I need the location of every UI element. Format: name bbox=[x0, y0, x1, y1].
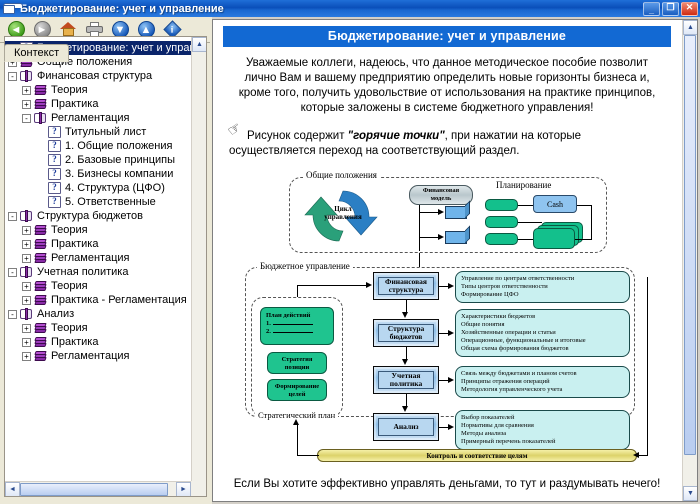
books-icon bbox=[34, 294, 47, 306]
open-book-icon bbox=[20, 70, 33, 82]
detail-arrow-1 bbox=[448, 283, 454, 289]
cycle-label: Цикл управления bbox=[313, 205, 373, 221]
tree-item[interactable]: +Практика bbox=[5, 97, 191, 111]
tree-item-label: Практика - Регламентация bbox=[51, 294, 187, 306]
tree-item[interactable]: 5. Ответственные bbox=[5, 195, 191, 209]
expand-icon[interactable]: + bbox=[22, 324, 31, 333]
tree-item-label: Учетная политика bbox=[37, 266, 128, 278]
books-icon bbox=[34, 84, 47, 96]
topic-tree-frame: Бюджетирование: учет и управлен+Общие по… bbox=[4, 36, 207, 497]
fm-cube-1[interactable] bbox=[445, 206, 467, 219]
top-to-main-connector bbox=[419, 253, 420, 267]
books-icon bbox=[34, 238, 47, 250]
help-page-icon bbox=[48, 140, 61, 152]
planning-bar-3[interactable] bbox=[485, 233, 518, 245]
tree-item[interactable]: +Практика - Регламентация bbox=[5, 293, 191, 307]
scrollbar-corner bbox=[191, 481, 206, 496]
tree-item[interactable]: -Финансовая структура bbox=[5, 69, 191, 83]
window-folder-icon bbox=[3, 3, 16, 15]
open-book-icon bbox=[20, 308, 33, 320]
budget-management-label: Бюджетное управление bbox=[257, 261, 353, 271]
tree-item-label: 1. Общие положения bbox=[65, 140, 172, 152]
tree-item-label: Теория bbox=[51, 84, 88, 96]
action-plan-title: План действий bbox=[266, 312, 328, 320]
tree-item-label: Финансовая структура bbox=[37, 70, 152, 82]
planning-bar-1[interactable] bbox=[485, 199, 518, 211]
tree-item-label: 3. Бизнесы компании bbox=[65, 168, 173, 180]
fm-cube-2[interactable] bbox=[445, 231, 467, 244]
tree-item-label: Практика bbox=[51, 98, 98, 110]
strategy-to-chain-arrow bbox=[366, 282, 372, 288]
plan-link-right-v bbox=[591, 205, 592, 239]
tree-spacer bbox=[36, 156, 45, 165]
control-feedback-arrow bbox=[293, 419, 299, 425]
fm-branch-1 bbox=[419, 212, 439, 213]
tree-item[interactable]: -Учетная политика bbox=[5, 265, 191, 279]
plan-link-2 bbox=[518, 222, 542, 223]
open-book-icon bbox=[34, 112, 47, 124]
books-icon bbox=[34, 252, 47, 264]
tree-item[interactable]: 4. Структура (ЦФО) bbox=[5, 181, 191, 195]
tree-item-label: Анализ bbox=[37, 308, 74, 320]
tree-spacer bbox=[36, 128, 45, 137]
expand-icon[interactable]: + bbox=[22, 100, 31, 109]
control-right-arrow bbox=[633, 452, 639, 458]
collapse-icon[interactable]: - bbox=[8, 268, 17, 277]
goal-formation-box[interactable]: Формирование целей bbox=[267, 379, 327, 401]
plan-link-right-b bbox=[575, 239, 592, 240]
detail-arrow-2 bbox=[448, 330, 454, 336]
control-right-v bbox=[647, 277, 648, 455]
fm-branch-2 bbox=[419, 237, 439, 238]
topic-tree[interactable]: Бюджетирование: учет и управлен+Общие по… bbox=[5, 37, 191, 481]
footer-paragraph: Если Вы хотите эффективно управлять день… bbox=[229, 477, 665, 492]
books-icon bbox=[34, 336, 47, 348]
content-scroll-thumb[interactable] bbox=[684, 35, 696, 455]
tree-spacer bbox=[36, 142, 45, 151]
tree-item-label: Теория bbox=[51, 224, 88, 236]
expand-icon[interactable]: + bbox=[22, 338, 31, 347]
control-bar[interactable]: Контроль и соответствие целям bbox=[317, 449, 637, 462]
action-plan-item-2: 2. bbox=[266, 328, 328, 336]
pointing-hand-icon bbox=[229, 125, 245, 143]
tab-context[interactable]: Контекст bbox=[4, 44, 69, 62]
intro-paragraph: Уважаемые коллеги, надеюсь, что данное м… bbox=[229, 56, 665, 116]
tree-item-label: Титульный лист bbox=[65, 126, 146, 138]
tree-vertical-scrollbar[interactable]: ▲ bbox=[191, 37, 206, 481]
content-pane: Бюджетирование: учет и управление Уважае… bbox=[212, 19, 698, 502]
tree-item-label: Практика bbox=[51, 238, 98, 250]
collapse-icon[interactable]: - bbox=[8, 310, 17, 319]
strategy-position-box[interactable]: Стратегия позиции bbox=[267, 352, 327, 374]
restore-button[interactable]: ❐ bbox=[662, 2, 679, 16]
hotspot-hint: Рисунок содержит "горячие точки", при на… bbox=[229, 125, 665, 159]
tree-item-label: Теория bbox=[51, 322, 88, 334]
control-right-h bbox=[639, 455, 648, 456]
books-icon bbox=[34, 98, 47, 110]
tree-item[interactable]: 2. Базовые принципы bbox=[5, 153, 191, 167]
tree-item[interactable]: +Регламентация bbox=[5, 349, 191, 363]
window-title-bar[interactable]: Бюджетирование: учет и управление _ ❐ ✕ bbox=[0, 0, 700, 17]
plan-link-1 bbox=[518, 205, 533, 206]
tree-item[interactable]: +Практика bbox=[5, 335, 191, 349]
help-page-icon bbox=[48, 196, 61, 208]
content-scroll-up-button[interactable]: ▲ bbox=[683, 20, 698, 35]
tree-horizontal-scrollbar[interactable]: ◄ ► bbox=[5, 481, 191, 496]
tree-item[interactable]: 1. Общие положения bbox=[5, 139, 191, 153]
expand-icon[interactable]: + bbox=[22, 226, 31, 235]
tree-item[interactable]: Титульный лист bbox=[5, 125, 191, 139]
general-provisions-label: Общие положения bbox=[303, 170, 380, 180]
page-title: Бюджетирование: учет и управление bbox=[223, 26, 671, 47]
tree-item[interactable]: 3. Бизнесы компании bbox=[5, 167, 191, 181]
window-controls: _ ❐ ✕ bbox=[643, 2, 698, 16]
navigation-pane: ◄ ► ▼ ▲ i Контекст Поиск bbox=[0, 17, 212, 504]
tree-spacer bbox=[36, 198, 45, 207]
collapse-icon[interactable]: - bbox=[8, 72, 17, 81]
control-feedback-v bbox=[297, 425, 298, 456]
planning-bar-2[interactable] bbox=[485, 216, 518, 228]
tree-spacer bbox=[36, 184, 45, 193]
tree-spacer bbox=[36, 170, 45, 179]
tree-hscroll-thumb[interactable] bbox=[20, 483, 168, 496]
strategy-to-chain-h bbox=[297, 285, 367, 286]
accounting-policy-details[interactable]: Связь между бюджетами и планом счетов Пр… bbox=[455, 366, 630, 398]
tree-item[interactable]: -Анализ bbox=[5, 307, 191, 321]
collapse-icon[interactable]: - bbox=[22, 114, 31, 123]
expand-icon[interactable]: + bbox=[22, 296, 31, 305]
action-plan-item-1: 1. bbox=[266, 320, 328, 328]
open-book-icon bbox=[20, 210, 33, 222]
detail-arrow-4 bbox=[448, 424, 454, 430]
content-vertical-scrollbar[interactable]: ▲ ▼ bbox=[682, 20, 697, 501]
tree-item-label: Регламентация bbox=[51, 252, 129, 264]
strategy-to-chain-v bbox=[297, 285, 298, 297]
tree-item[interactable]: +Регламентация bbox=[5, 251, 191, 265]
financial-structure-details[interactable]: Управление по центрам ответственности Ти… bbox=[455, 271, 630, 303]
content-scroll-down-button[interactable]: ▼ bbox=[683, 486, 698, 501]
planning-label: Планирование bbox=[493, 180, 554, 190]
budget-structure-box[interactable]: Структурабюджетов bbox=[373, 319, 439, 347]
tree-item[interactable]: +Практика bbox=[5, 237, 191, 251]
tree-item[interactable]: -Структура бюджетов bbox=[5, 209, 191, 223]
open-book-icon bbox=[20, 266, 33, 278]
financial-structure-box[interactable]: Финансоваяструктура bbox=[373, 272, 439, 300]
help-page-icon bbox=[48, 126, 61, 138]
tree-item-label: Регламентация bbox=[51, 350, 129, 362]
detail-arrow-3 bbox=[448, 377, 454, 383]
tree-item[interactable]: +Теория bbox=[5, 223, 191, 237]
tree-item[interactable]: +Теория bbox=[5, 83, 191, 97]
tree-item-label: 4. Структура (ЦФО) bbox=[65, 182, 165, 194]
minimize-icon: _ bbox=[649, 6, 654, 15]
control-feedback-h bbox=[297, 455, 319, 456]
tree-item[interactable]: -Регламентация bbox=[5, 111, 191, 125]
tree-scroll-up-button[interactable]: ▲ bbox=[192, 37, 207, 52]
tree-item-label: 5. Ответственные bbox=[65, 196, 156, 208]
expand-icon[interactable]: + bbox=[22, 86, 31, 95]
books-icon bbox=[34, 322, 47, 334]
help-page-icon bbox=[48, 154, 61, 166]
home-icon bbox=[60, 22, 77, 37]
tree-item-label: Структура бюджетов bbox=[37, 210, 143, 222]
close-button[interactable]: ✕ bbox=[681, 2, 698, 16]
document-body: Бюджетирование: учет и управление Уважае… bbox=[213, 20, 681, 501]
hint-emphasis: "горячие точки" bbox=[348, 130, 445, 142]
tree-item-label: Теория bbox=[51, 280, 88, 292]
window-title: Бюджетирование: учет и управление bbox=[20, 3, 643, 15]
tree-item-label: Практика bbox=[51, 336, 98, 348]
cash-box[interactable]: Cash bbox=[533, 195, 577, 213]
help-page-icon bbox=[48, 182, 61, 194]
minimize-button[interactable]: _ bbox=[643, 2, 660, 16]
restore-icon: ❐ bbox=[666, 3, 674, 12]
expand-icon[interactable]: + bbox=[22, 282, 31, 291]
financial-model-box[interactable]: Финансовая модель bbox=[409, 185, 473, 205]
help-page-icon bbox=[48, 168, 61, 180]
expand-icon[interactable]: + bbox=[22, 240, 31, 249]
printer-icon bbox=[86, 22, 103, 37]
analysis-details[interactable]: Выбор показателей Нормативы для сравнени… bbox=[455, 410, 630, 450]
tree-scroll-left-button[interactable]: ◄ bbox=[5, 482, 20, 497]
books-icon bbox=[34, 224, 47, 236]
expand-icon[interactable]: + bbox=[22, 352, 31, 361]
books-icon bbox=[34, 350, 47, 362]
tree-item[interactable]: +Теория bbox=[5, 321, 191, 335]
close-icon: ✕ bbox=[686, 3, 694, 12]
tree-scroll-right-button[interactable]: ► bbox=[176, 482, 191, 497]
chain-arrow-1 bbox=[402, 312, 408, 318]
budget-management-diagram[interactable]: Общие положения Цикл управления Финансов… bbox=[227, 167, 667, 463]
analysis-box[interactable]: Анализ bbox=[373, 413, 439, 441]
content-pane-wrapper: Бюджетирование: учет и управление Уважае… bbox=[212, 17, 700, 504]
tree-item-label: Регламентация bbox=[51, 112, 129, 124]
planning-stack-front[interactable] bbox=[533, 228, 575, 249]
tree-item[interactable]: +Теория bbox=[5, 279, 191, 293]
hint-prefix: Рисунок содержит bbox=[247, 130, 348, 142]
collapse-icon[interactable]: - bbox=[8, 212, 17, 221]
chain-arrow-3 bbox=[402, 406, 408, 412]
expand-icon[interactable]: + bbox=[22, 254, 31, 263]
tree-item-label: 2. Базовые принципы bbox=[65, 154, 175, 166]
books-icon bbox=[34, 280, 47, 292]
fm-arrow-1 bbox=[438, 209, 444, 215]
plan-link-3 bbox=[518, 239, 533, 240]
plan-link-right bbox=[577, 205, 591, 206]
accounting-policy-box[interactable]: Учетнаяполитика bbox=[373, 366, 439, 394]
fm-arrow-2 bbox=[438, 234, 444, 240]
budget-structure-details[interactable]: Характеристики бюджетов Общие понятия Хо… bbox=[455, 309, 630, 357]
action-plan-box[interactable]: План действий 1. 2. bbox=[260, 307, 334, 345]
chain-arrow-2 bbox=[402, 359, 408, 365]
